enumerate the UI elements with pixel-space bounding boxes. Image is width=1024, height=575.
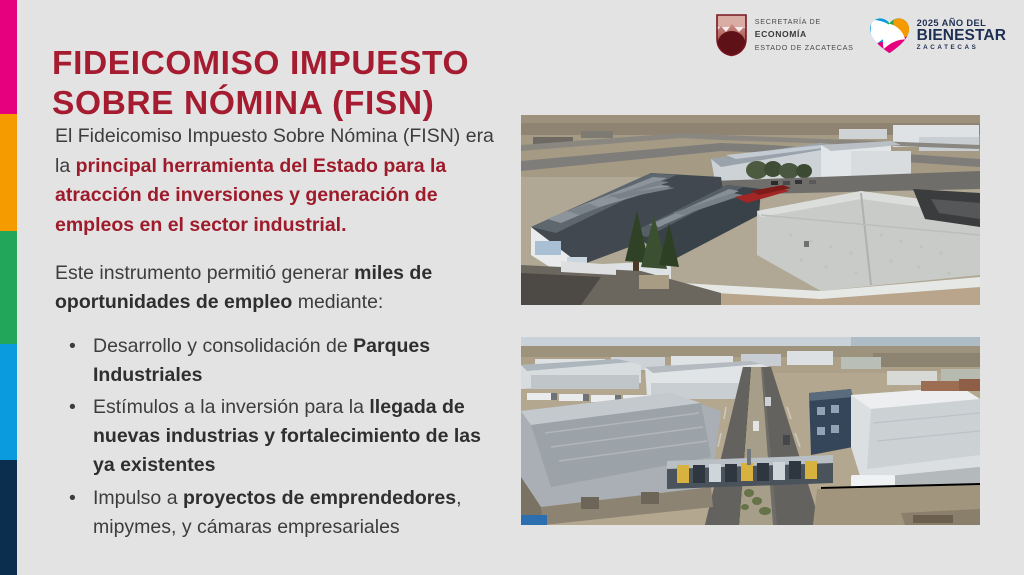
logo-economia-text: SECRETARÍA DE ECONOMÍA ESTADO DE ZACATEC… [755, 16, 854, 53]
logo-economia-line-3: ESTADO DE ZACATECAS [755, 42, 854, 54]
list-item-plain-start: Impulso a [93, 487, 183, 509]
rail-segment-magenta [0, 0, 17, 114]
left-color-rail [0, 0, 17, 575]
list-item-bold: proyectos de emprendedores [183, 487, 456, 509]
bullet-marker-icon: • [69, 393, 76, 422]
list-item: •Estímulos a la inversión para la llegad… [55, 393, 495, 480]
rail-segment-orange [0, 114, 17, 231]
logo-bienestar-text: 2025 AÑO DEL BIENESTAR ZACATECAS [917, 18, 1006, 52]
logo-economia-line-2: ECONOMÍA [755, 28, 854, 42]
paragraph-intro-highlight: principal herramienta del Estado para la… [55, 155, 446, 236]
bullet-list: •Desarrollo y consolidación de Parques I… [55, 332, 495, 542]
paragraph-intro: El Fideicomiso Impuesto Sobre Nómina (FI… [55, 122, 495, 241]
bullet-marker-icon: • [69, 484, 76, 513]
logo-group: SECRETARÍA DE ECONOMÍA ESTADO DE ZACATEC… [715, 13, 1006, 57]
paragraph-instrument-plain-end: mediante: [292, 291, 383, 313]
rail-segment-green [0, 231, 17, 344]
photo-aerial-industrial-park-bridge [521, 337, 980, 525]
list-item: •Desarrollo y consolidación de Parques I… [55, 332, 495, 390]
shield-icon [715, 13, 748, 57]
logo-bienestar-line-2: BIENESTAR [917, 28, 1006, 45]
rail-segment-navy [0, 460, 17, 575]
bullet-marker-icon: • [69, 332, 76, 361]
paragraph-instrument-plain-start: Este instrumento permitió generar [55, 262, 354, 284]
list-item-plain-start: Desarrollo y consolidación de [93, 335, 353, 357]
logo-bienestar-line-3: ZACATECAS [917, 45, 1006, 52]
paragraph-instrument: Este instrumento permitió generar miles … [55, 259, 495, 318]
heart-icon [868, 14, 911, 57]
page-title: FIDEICOMISO IMPUESTO SOBRE NÓMINA (FISN) [52, 44, 522, 122]
logo-economia-line-1: SECRETARÍA DE [755, 16, 854, 28]
logo-ano-del-bienestar: 2025 AÑO DEL BIENESTAR ZACATECAS [868, 14, 1006, 57]
list-item-plain-start: Estímulos a la inversión para la [93, 396, 369, 418]
photo-aerial-industrial-park-warehouses [521, 115, 980, 305]
slide-root: FIDEICOMISO IMPUESTO SOBRE NÓMINA (FISN) [0, 0, 1024, 575]
page-title-line-1: FIDEICOMISO IMPUESTO [52, 44, 522, 83]
body-copy: El Fideicomiso Impuesto Sobre Nómina (FI… [55, 122, 495, 546]
page-title-line-2: SOBRE NÓMINA (FISN) [52, 84, 522, 123]
list-item: •Impulso a proyectos de emprendedores, m… [55, 484, 495, 542]
rail-segment-blue [0, 344, 17, 460]
logo-secretaria-economia: SECRETARÍA DE ECONOMÍA ESTADO DE ZACATEC… [715, 13, 854, 57]
